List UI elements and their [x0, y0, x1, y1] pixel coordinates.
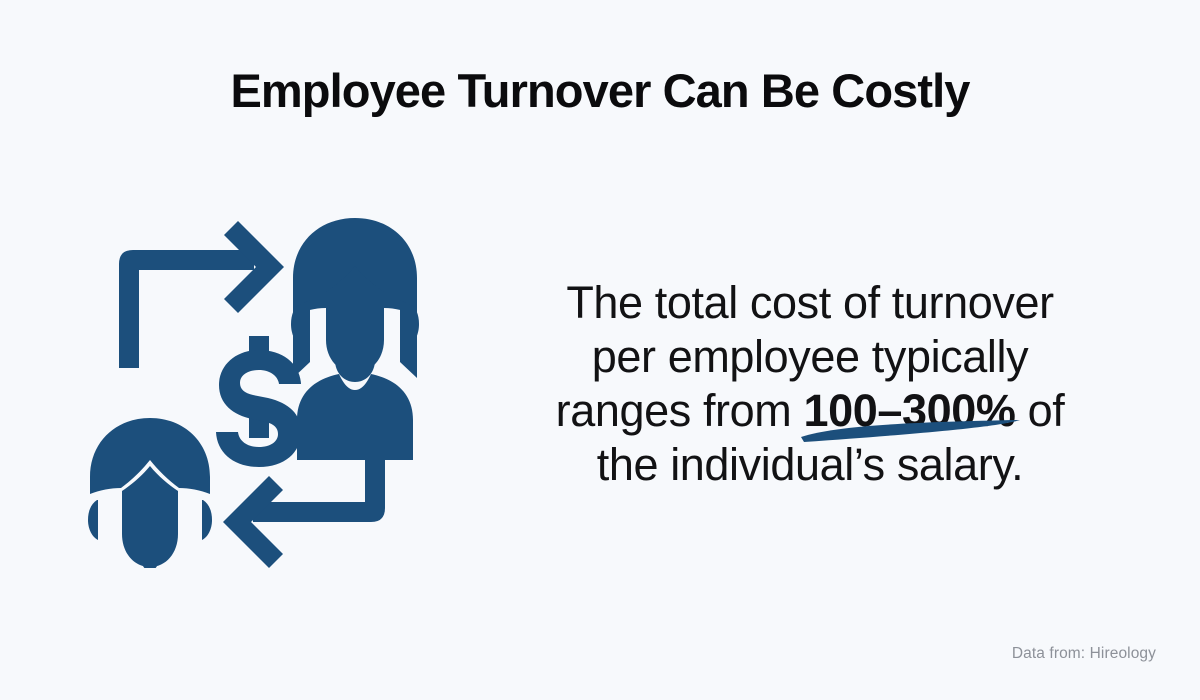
source-attribution: Data from: Hireology: [1012, 645, 1156, 663]
body-line-2: per employee typically: [592, 331, 1028, 382]
body-line-4: the individual’s salary.: [597, 439, 1023, 490]
infographic-canvas: Employee Turnover Can Be Costly: [0, 0, 1200, 700]
body-line-3-prefix: ranges from: [556, 385, 804, 436]
body-statement: The total cost of turnover per employee …: [500, 276, 1120, 492]
female-employee-figure-icon: [291, 218, 419, 460]
body-line-1: The total cost of turnover: [566, 277, 1053, 328]
highlight-percentage: 100–300%: [803, 385, 1015, 436]
page-title: Employee Turnover Can Be Costly: [0, 66, 1200, 117]
employee-turnover-exchange-icon: [78, 208, 468, 568]
male-employee-figure-icon: [88, 418, 212, 568]
dollar-sign-icon: [216, 336, 301, 467]
body-line-3-suffix: of: [1015, 385, 1064, 436]
